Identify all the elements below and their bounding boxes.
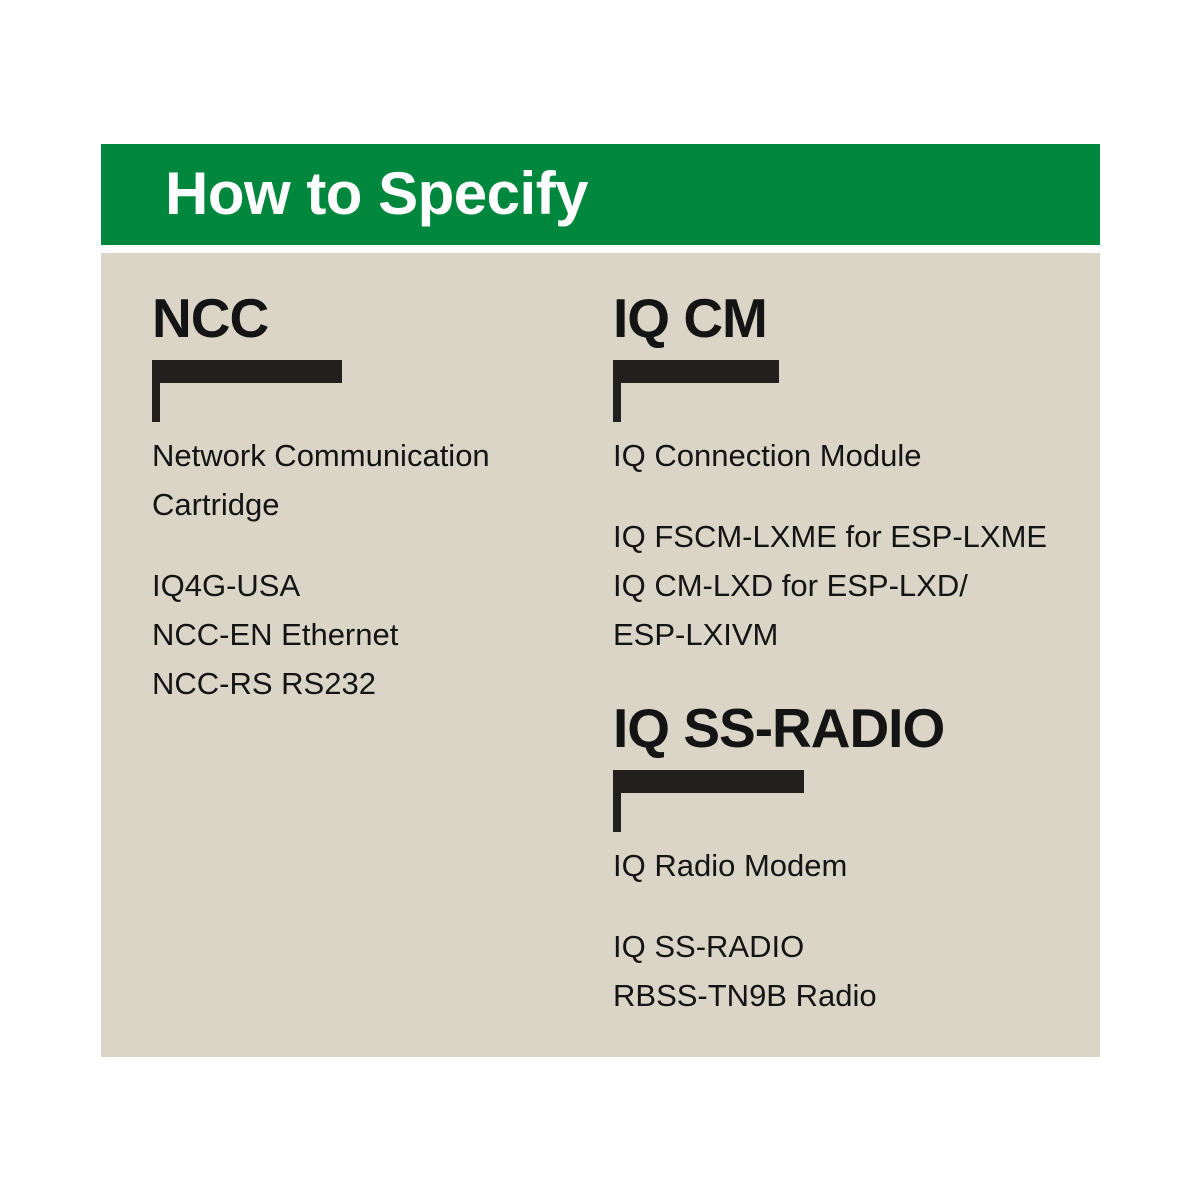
spec-block-ncc: NCC Network Communication Cartridge IQ4G… bbox=[152, 291, 582, 709]
corner-rule-icon bbox=[613, 770, 1053, 832]
specification-page: How to Specify NCC Network Communication… bbox=[0, 0, 1200, 1200]
corner-rule-horizontal-bar bbox=[613, 770, 804, 793]
spec-block-iq-cm: IQ CM IQ Connection Module IQ FSCM-LXME … bbox=[613, 291, 1053, 660]
spec-block-iq-ss-radio-part-list: IQ SS-RADIO RBSS-TN9B Radio bbox=[613, 923, 1053, 1021]
description-line: IQ Connection Module bbox=[613, 432, 1053, 481]
part-number-line: ESP-LXIVM bbox=[613, 611, 1053, 660]
spec-block-iq-ss-radio-description: IQ Radio Modem bbox=[613, 842, 1053, 891]
spec-block-iq-cm-description: IQ Connection Module bbox=[613, 432, 1053, 481]
spec-block-iq-cm-title: IQ CM bbox=[613, 291, 1053, 346]
part-number-line: NCC-EN Ethernet bbox=[152, 611, 582, 660]
corner-rule-icon bbox=[613, 360, 1053, 422]
part-number-line: IQ4G-USA bbox=[152, 562, 582, 611]
how-to-specify-banner: How to Specify bbox=[101, 144, 1100, 245]
description-line: IQ Radio Modem bbox=[613, 842, 1053, 891]
part-number-line: NCC-RS RS232 bbox=[152, 660, 582, 709]
corner-rule-horizontal-bar bbox=[152, 360, 342, 383]
content-panel: NCC Network Communication Cartridge IQ4G… bbox=[101, 253, 1100, 1057]
part-number-line: IQ SS-RADIO bbox=[613, 923, 1053, 972]
part-number-line: IQ CM-LXD for ESP-LXD/ bbox=[613, 562, 1053, 611]
spec-block-iq-ss-radio: IQ SS-RADIO IQ Radio Modem IQ SS-RADIO R… bbox=[613, 701, 1053, 1021]
corner-rule-vertical-stem bbox=[613, 383, 621, 422]
spec-block-iq-ss-radio-title: IQ SS-RADIO bbox=[613, 701, 1053, 756]
part-number-line: RBSS-TN9B Radio bbox=[613, 972, 1053, 1021]
page-title: How to Specify bbox=[165, 163, 588, 223]
description-line: Cartridge bbox=[152, 481, 582, 530]
spec-block-ncc-title: NCC bbox=[152, 291, 582, 346]
corner-rule-horizontal-bar bbox=[613, 360, 779, 383]
spec-block-iq-cm-part-list: IQ FSCM-LXME for ESP-LXME IQ CM-LXD for … bbox=[613, 513, 1053, 660]
spec-block-ncc-part-list: IQ4G-USA NCC-EN Ethernet NCC-RS RS232 bbox=[152, 562, 582, 709]
description-line: Network Communication bbox=[152, 432, 582, 481]
spec-block-ncc-description: Network Communication Cartridge bbox=[152, 432, 582, 530]
part-number-line: IQ FSCM-LXME for ESP-LXME bbox=[613, 513, 1053, 562]
corner-rule-icon bbox=[152, 360, 582, 422]
corner-rule-vertical-stem bbox=[152, 383, 160, 422]
corner-rule-vertical-stem bbox=[613, 793, 621, 832]
